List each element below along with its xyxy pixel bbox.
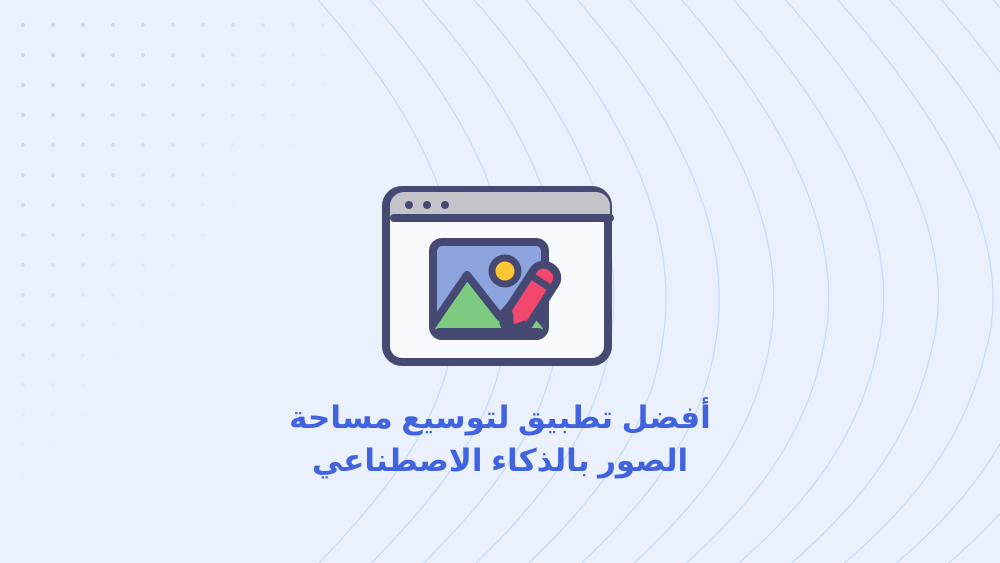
content-column: أفضل تطبيق لتوسيع مساحة الصور بالذكاء ال…	[0, 0, 1000, 563]
headline-line-1: أفضل تطبيق لتوسيع مساحة	[190, 396, 810, 439]
banner-canvas: أفضل تطبيق لتوسيع مساحة الصور بالذكاء ال…	[0, 0, 1000, 563]
page-title: أفضل تطبيق لتوسيع مساحة الصور بالذكاء ال…	[190, 396, 810, 482]
image-editor-illustration	[380, 182, 620, 372]
sun-shape	[492, 258, 518, 284]
window-control-dots	[405, 201, 449, 209]
headline-line-2: الصور بالذكاء الاصطناعي	[190, 439, 810, 482]
